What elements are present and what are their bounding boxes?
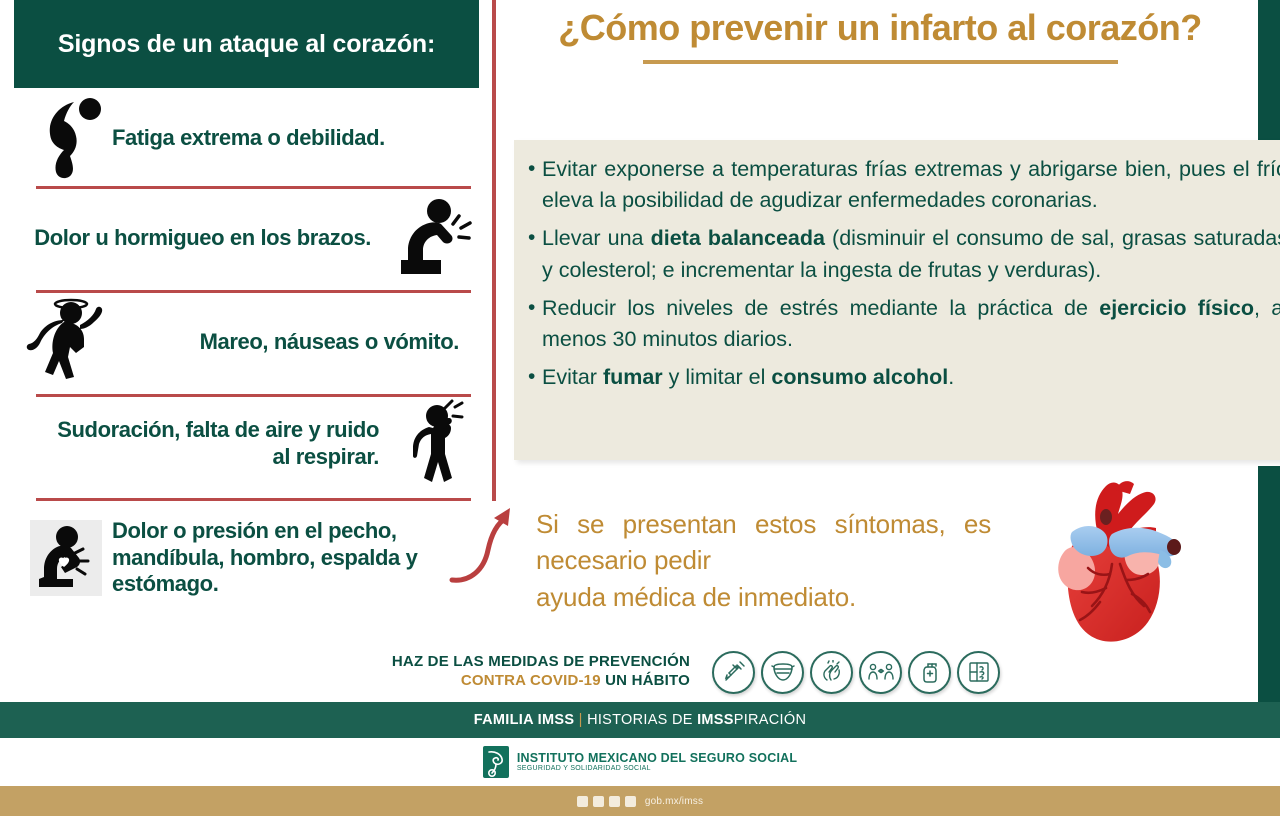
sign-label: Sudoración, falta de aire y ruido al res…	[34, 417, 393, 471]
person-short-of-breath-icon	[393, 398, 473, 490]
syringe-vaccine-icon	[712, 651, 755, 694]
wash-hands-icon	[810, 651, 853, 694]
row-separator	[36, 498, 471, 501]
familia-rest-post: PIRACIÓN	[734, 712, 807, 728]
callout-line-1: Si se presentan estos síntomas, es neces…	[536, 506, 991, 579]
infographic-page: Signos de un ataque al corazón: Fatiga e…	[0, 0, 1280, 816]
social-distancing-icon	[859, 651, 902, 694]
imss-logo-text: INSTITUTO MEXICANO DEL SEGURO SOCIAL SEG…	[517, 751, 797, 773]
familia-pipe: |	[574, 712, 587, 728]
ventilate-room-icon	[957, 651, 1000, 694]
prevention-title-block: ¿Cómo prevenir un infarto al corazón?	[520, 8, 1240, 64]
tip-text: Llevar una dieta balanceada (disminuir e…	[542, 223, 1280, 285]
sign-label: Mareo, náuseas o vómito.	[118, 329, 469, 356]
row-separator	[36, 394, 471, 397]
bullet-icon: •	[528, 223, 542, 253]
callout-line-2: ayuda médica de inmediato.	[536, 579, 991, 615]
covid-line-2-gold: CONTRA COVID-19	[461, 672, 605, 689]
person-arm-pain-icon	[383, 196, 475, 280]
bullet-icon: •	[528, 362, 542, 392]
signs-column: Signos de un ataque al corazón: Fatiga e…	[0, 0, 492, 700]
bullet-icon: •	[528, 154, 542, 184]
row-separator	[36, 290, 471, 293]
person-chest-pain-icon	[30, 520, 102, 596]
sign-row: Fatiga extrema o debilidad.	[14, 92, 479, 184]
sign-label: Dolor o presión en el pecho, mandíbula, …	[112, 518, 473, 598]
gob-url-text[interactable]: gob.mx/imss	[645, 796, 703, 807]
face-mask-icon	[761, 651, 804, 694]
tip-item: • Evitar exponerse a temperaturas frías …	[528, 154, 1280, 216]
prevention-column: ¿Cómo prevenir un infarto al corazón? • …	[496, 0, 1280, 700]
tip-item: • Reducir los niveles de estrés mediante…	[528, 293, 1280, 355]
imss-eagle-logo-icon	[483, 746, 509, 778]
familia-imss-text: FAMILIA IMSS | HISTORIAS DE IMSSPIRACIÓN	[474, 712, 806, 728]
familia-imss-bar: FAMILIA IMSS | HISTORIAS DE IMSSPIRACIÓN	[0, 702, 1280, 738]
covid-banner-text: HAZ DE LAS MEDIDAS DE PREVENCIÓN CONTRA …	[300, 653, 690, 691]
tip-item: • Evitar fumar y limitar el consumo alco…	[528, 362, 1280, 393]
facebook-icon[interactable]	[577, 796, 588, 807]
sanitizer-bottle-icon	[908, 651, 951, 694]
signs-header-banner: Signos de un ataque al corazón:	[14, 0, 479, 88]
sign-label: Fatiga extrema o debilidad.	[112, 125, 385, 152]
bullet-icon: •	[528, 293, 542, 323]
prevention-tips-panel: • Evitar exponerse a temperaturas frías …	[514, 140, 1280, 460]
familia-bold: FAMILIA IMSS	[474, 712, 575, 728]
institute-name: INSTITUTO MEXICANO DEL SEGURO SOCIAL	[517, 751, 797, 765]
tip-text: Evitar exponerse a temperaturas frías ex…	[542, 154, 1280, 216]
curved-arrow-icon	[444, 498, 514, 588]
person-fatigued-icon	[34, 96, 108, 180]
row-separator	[36, 186, 471, 189]
callout-text: Si se presentan estos síntomas, es neces…	[536, 506, 991, 615]
anatomical-heart-illustration	[1034, 470, 1194, 660]
sign-label: Dolor u hormigueo en los brazos.	[34, 225, 383, 252]
sign-row: Dolor o presión en el pecho, mandíbula, …	[14, 498, 479, 618]
familia-rest-bold: IMSS	[697, 712, 734, 728]
institute-tagline: SEGURIDAD Y SOLIDARIDAD SOCIAL	[517, 765, 797, 773]
gob-mx-bar: gob.mx/imss	[0, 786, 1280, 816]
imss-logo-strip: INSTITUTO MEXICANO DEL SEGURO SOCIAL SEG…	[0, 738, 1280, 786]
covid-icon-row	[712, 651, 1000, 694]
tip-text: Evitar fumar y limitar el consumo alcoho…	[542, 362, 1280, 393]
covid-line-1: HAZ DE LAS MEDIDAS DE PREVENCIÓN	[300, 653, 690, 672]
covid-line-2-green: UN HÁBITO	[605, 672, 690, 689]
tip-text: Reducir los niveles de estrés mediante l…	[542, 293, 1280, 355]
tip-item: • Llevar una dieta balanceada (disminuir…	[528, 223, 1280, 285]
covid-line-2: CONTRA COVID-19 UN HÁBITO	[300, 672, 690, 691]
signs-header-title: Signos de un ataque al corazón:	[58, 30, 435, 59]
covid-prevention-banner: HAZ DE LAS MEDIDAS DE PREVENCIÓN CONTRA …	[300, 648, 1000, 696]
sign-row: Sudoración, falta de aire y ruido al res…	[14, 394, 479, 494]
title-underline-rule	[643, 60, 1118, 64]
instagram-icon[interactable]	[609, 796, 620, 807]
sign-row: Mareo, náuseas o vómito.	[14, 290, 479, 394]
familia-rest-pre: HISTORIAS DE	[587, 712, 697, 728]
person-dizzy-icon	[26, 295, 118, 389]
sign-row: Dolor u hormigueo en los brazos.	[14, 186, 479, 290]
prevention-title: ¿Cómo prevenir un infarto al corazón?	[520, 8, 1240, 48]
youtube-icon[interactable]	[625, 796, 636, 807]
twitter-icon[interactable]	[593, 796, 604, 807]
